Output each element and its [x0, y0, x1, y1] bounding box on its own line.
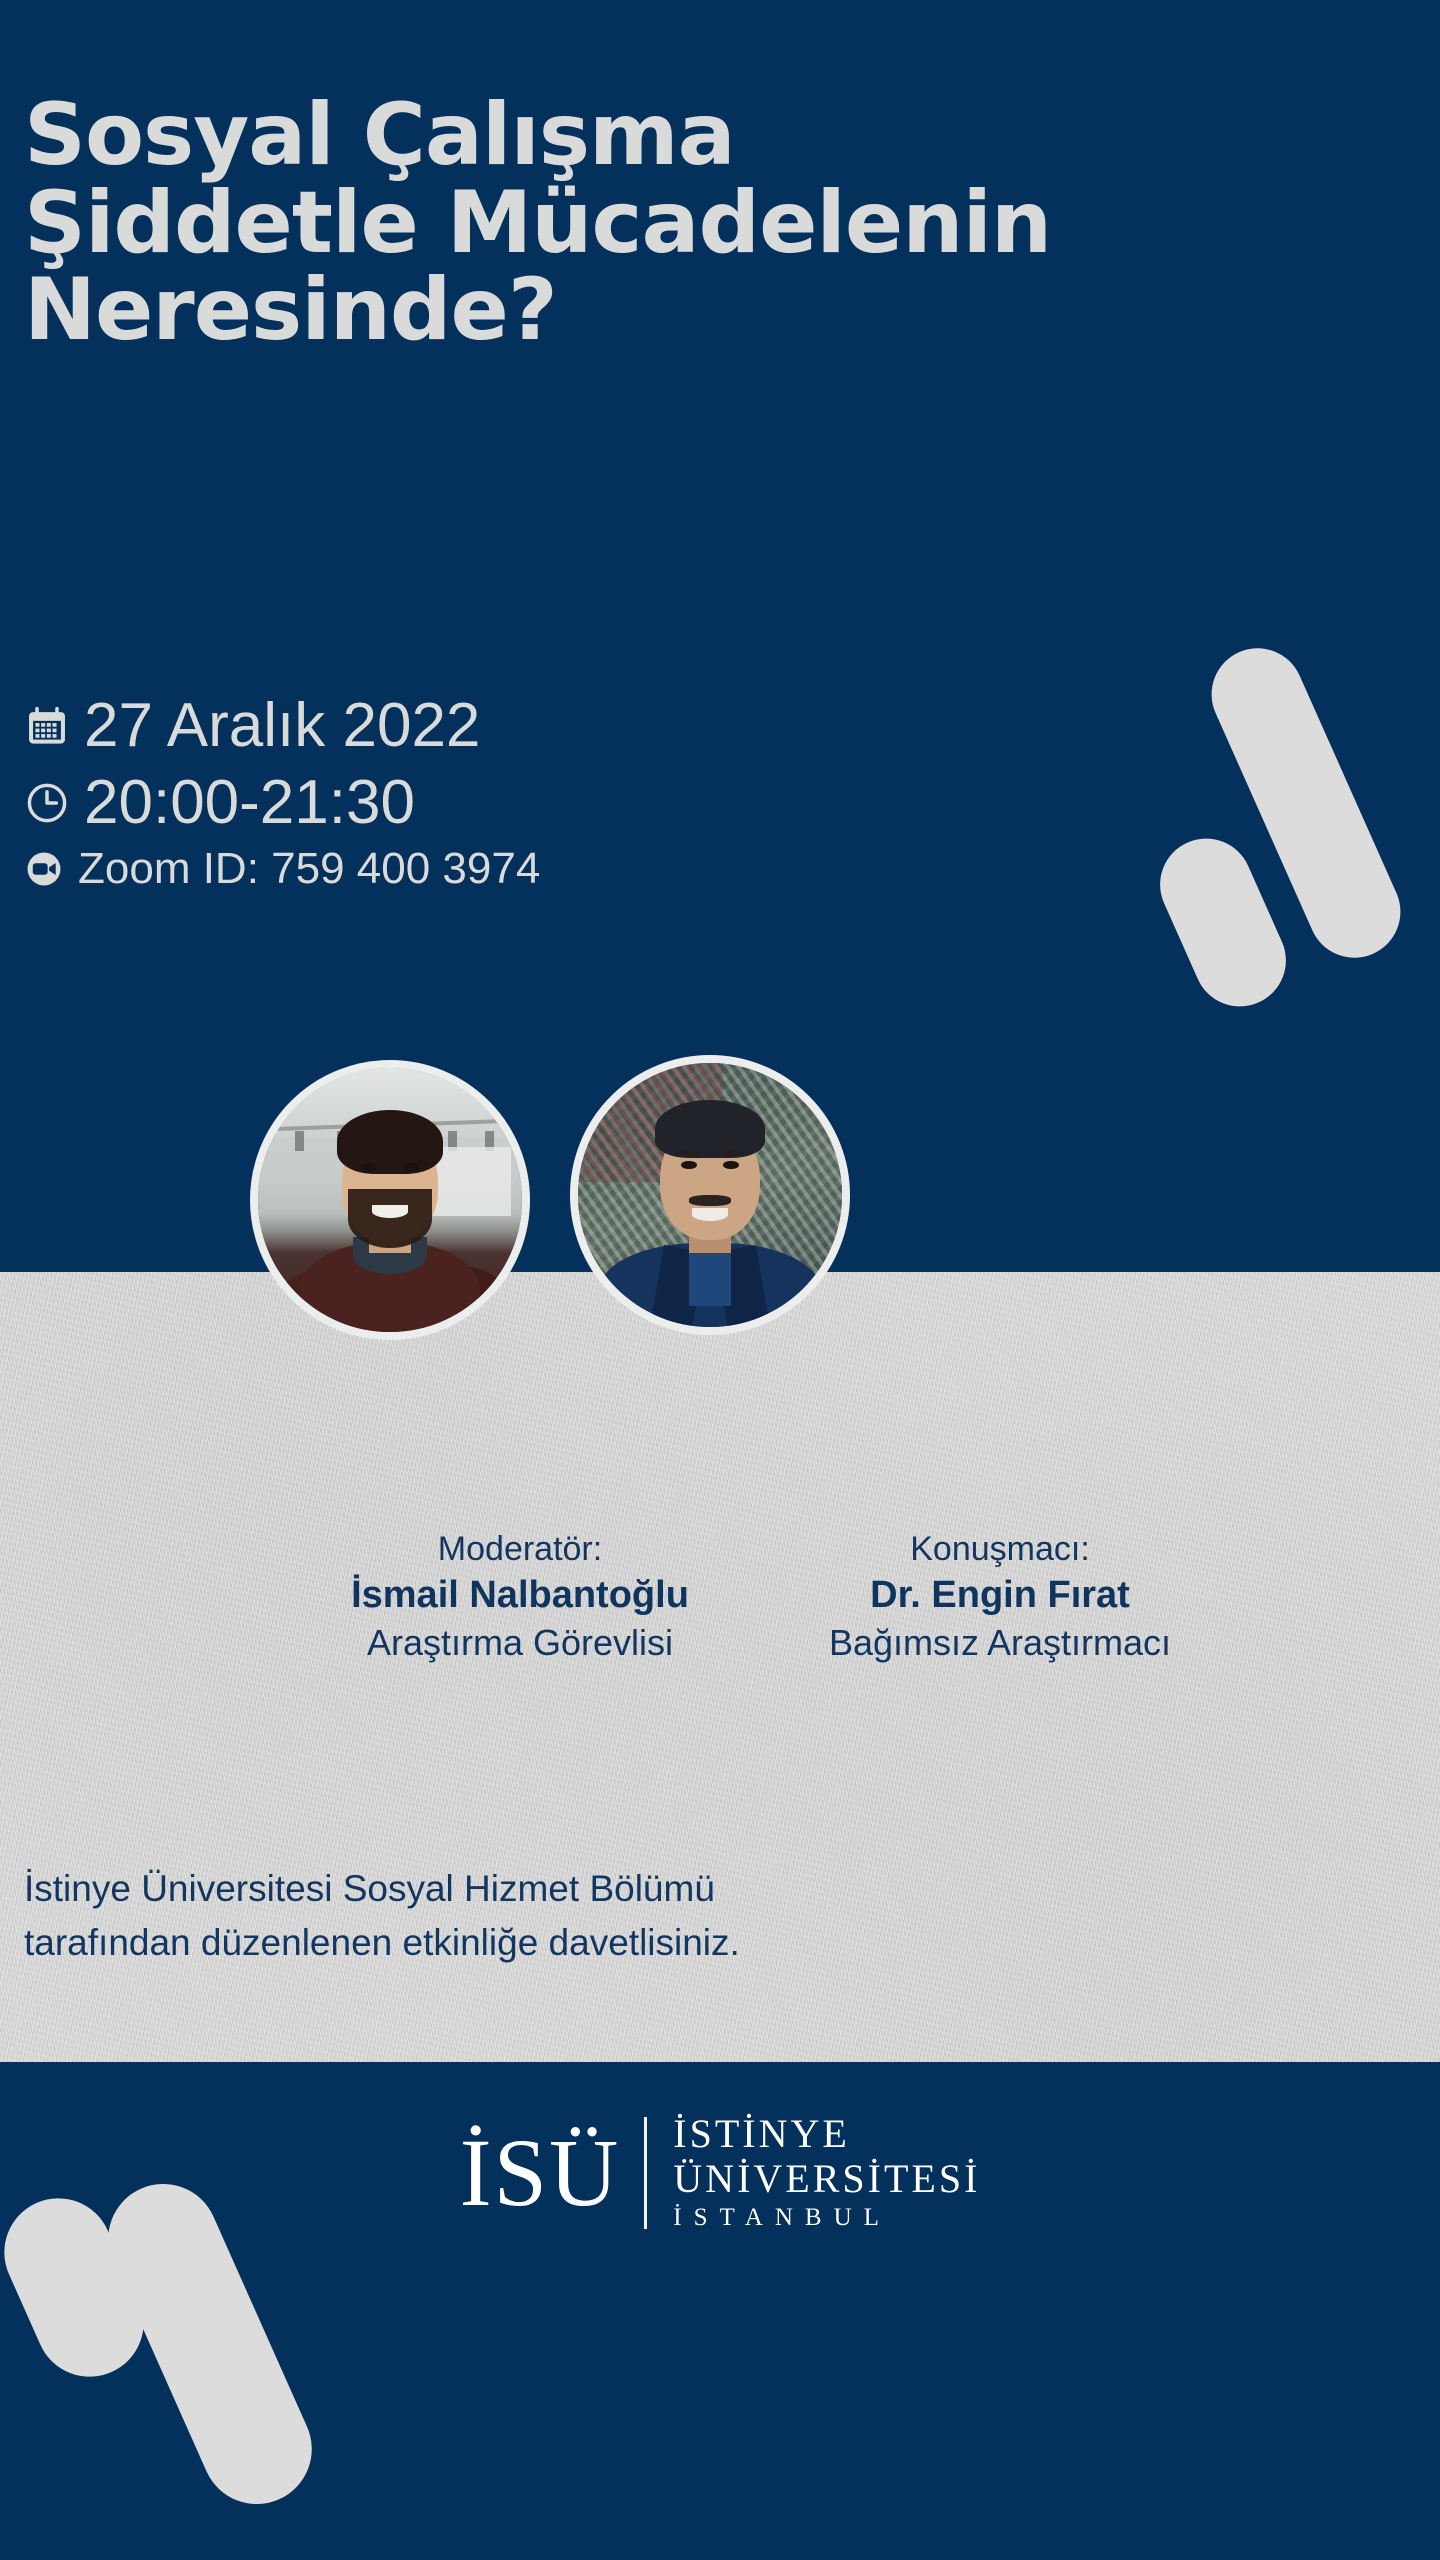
logo-monogram: İSÜ: [460, 2125, 645, 2221]
logo-wordmark: İSTİNYE ÜNİVERSİTESİ İSTANBUL: [673, 2112, 980, 2234]
invitation-description: İstinye Üniversitesi Sosyal Hizmet Bölüm…: [24, 1862, 1224, 1969]
university-logo: İSÜ İSTİNYE ÜNİVERSİTESİ İSTANBUL: [0, 2098, 1440, 2248]
event-meeting-text: Zoom ID: 759 400 3974: [78, 844, 540, 894]
event-meeting-row: Zoom ID: 759 400 3974: [24, 844, 924, 894]
description-line-1: İstinye Üniversitesi Sosyal Hizmet Bölüm…: [24, 1862, 1224, 1916]
title-line-1: Sosyal Çalışma: [24, 92, 1424, 180]
moderator-photo: [250, 1060, 530, 1340]
title-line-2: Şiddetle Mücadelenin: [24, 180, 1424, 268]
speaker-photo: [570, 1055, 850, 1335]
speaker-credit: Konuşmacı: Dr. Engin Fırat Bağımsız Araş…: [560, 1528, 1440, 1665]
event-time-row: 20:00-21:30: [24, 767, 924, 838]
speaker-name: Dr. Engin Fırat: [560, 1571, 1440, 1620]
title-line-3: Neresinde?: [24, 267, 1424, 355]
video-camera-icon: [24, 849, 64, 889]
logo-line-1: İSTİNYE: [673, 2112, 980, 2157]
decorative-slashes-top-right: [1165, 620, 1440, 980]
event-date-row: 27 Aralık 2022: [24, 690, 924, 761]
event-info-list: 27 Aralık 2022 20:00-21:30 Zoom ID: 759 …: [24, 690, 924, 900]
event-time-text: 20:00-21:30: [84, 767, 415, 838]
logo-divider: [644, 2117, 647, 2229]
logo-line-3: İSTANBUL: [673, 2202, 980, 2235]
event-poster: Sosyal Çalışma Şiddetle Mücadelenin Nere…: [0, 0, 1440, 2560]
event-date-text: 27 Aralık 2022: [84, 690, 480, 761]
speaker-subtitle: Bağımsız Araştırmacı: [560, 1620, 1440, 1665]
description-line-2: tarafından düzenlenen etkinliğe davetlis…: [24, 1916, 1224, 1970]
poster-title: Sosyal Çalışma Şiddetle Mücadelenin Nere…: [24, 92, 1424, 355]
logo-line-2: ÜNİVERSİTESİ: [673, 2157, 980, 2202]
calendar-icon: [24, 703, 70, 749]
speaker-role-label: Konuşmacı:: [560, 1528, 1440, 1571]
clock-icon: [24, 780, 70, 826]
